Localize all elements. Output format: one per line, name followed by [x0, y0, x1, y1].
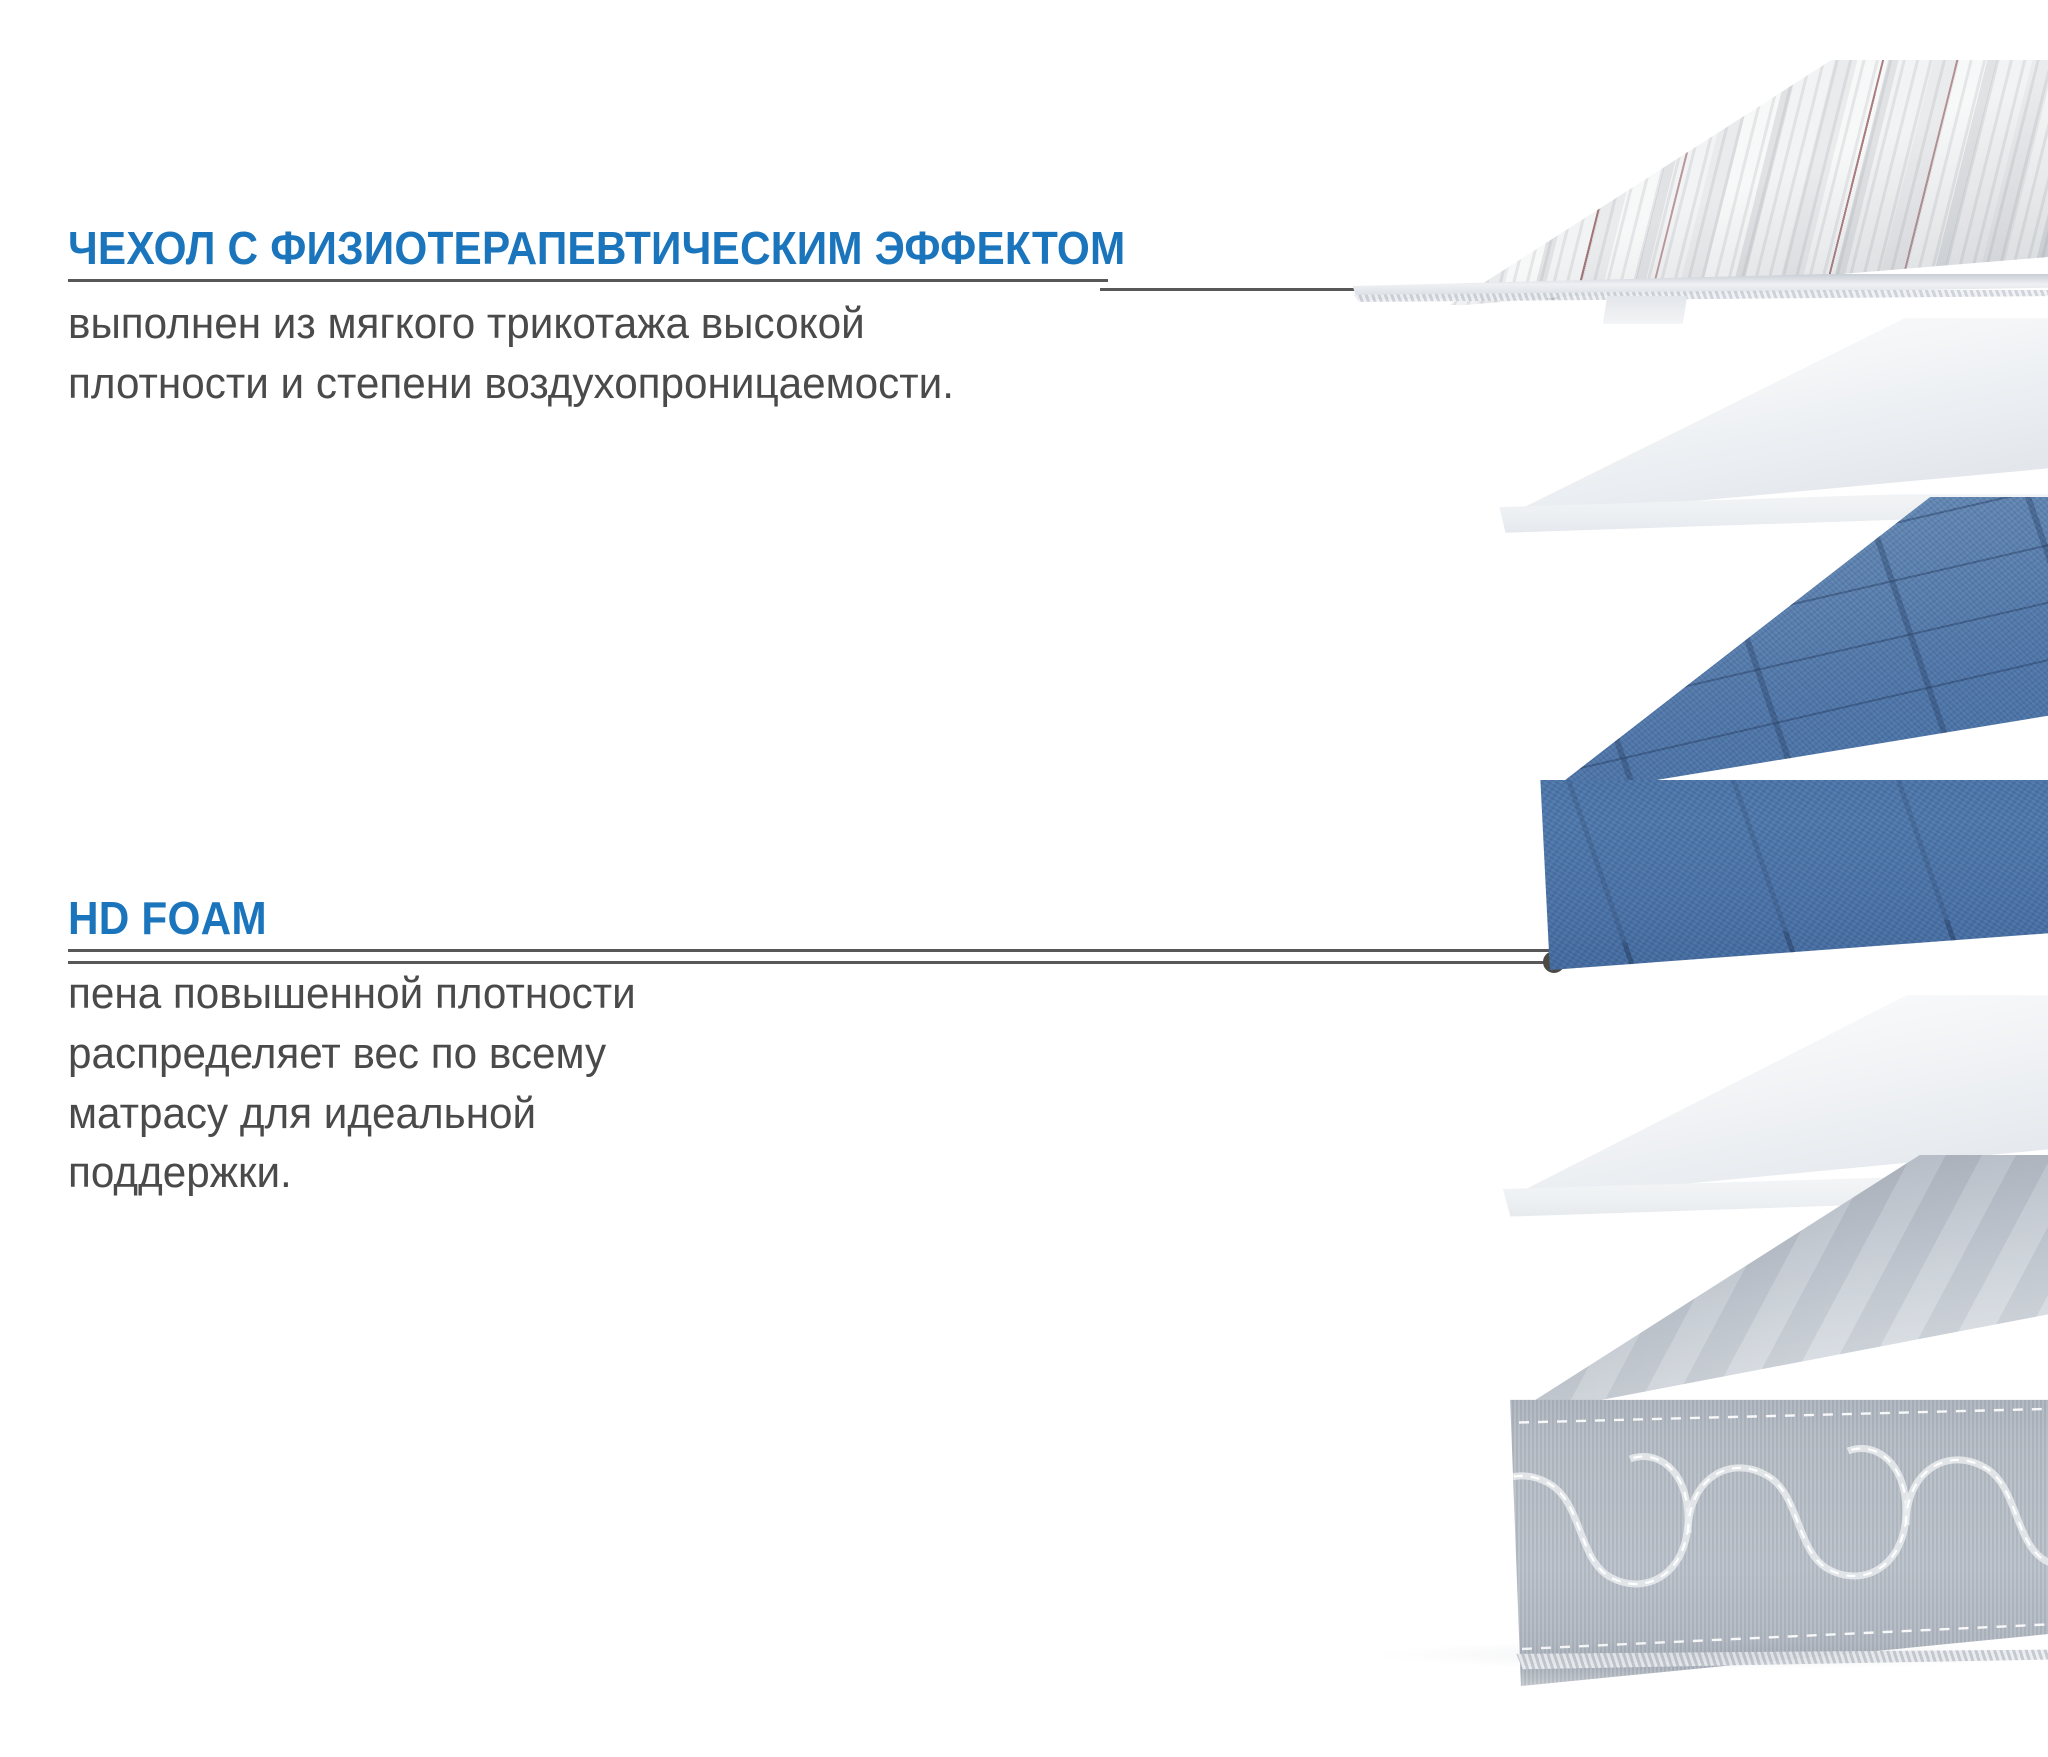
callout-cover-body: выполнен из мягкого трикотажа высокой пл…	[68, 294, 1066, 414]
callout-cover: ЧЕХОЛ С ФИЗИОТЕРАПЕВТИЧЕСКИМ ЭФФЕКТОМ вы…	[68, 225, 1108, 414]
mattress-layer-hd-foam	[1390, 497, 2048, 997]
callout-hd-foam-title: HD FOAM	[68, 895, 1439, 941]
callout-hd-foam-rule	[68, 949, 1558, 952]
mattress-layer-spring-base	[1350, 1155, 2048, 1715]
callout-cover-title: ЧЕХОЛ С ФИЗИОТЕРАПЕВТИЧЕСКИМ ЭФФЕКТОМ	[68, 225, 1025, 271]
callout-cover-rule	[68, 279, 1108, 282]
illustration-stage: ЧЕХОЛ С ФИЗИОТЕРАПЕВТИЧЕСКИМ ЭФФЕКТОМ вы…	[0, 0, 2048, 1757]
callout-hd-foam: HD FOAM пена повышенной плотности распре…	[68, 895, 1558, 1203]
mattress-exploded-stack	[1350, 60, 2048, 1700]
leader-line-hd-foam	[68, 961, 1558, 964]
callout-hd-foam-body: пена повышенной плотности распределяет в…	[68, 964, 1498, 1203]
hd-foam-top-texture	[1390, 497, 2048, 797]
white-foam-upper-top	[1358, 318, 2048, 518]
spring-base-top-shading	[1350, 1155, 2048, 1415]
mattress-layer-cover	[1340, 60, 2048, 330]
cover-top-surface	[1340, 60, 2048, 305]
stack-ambient-shadow	[1380, 1640, 2040, 1670]
